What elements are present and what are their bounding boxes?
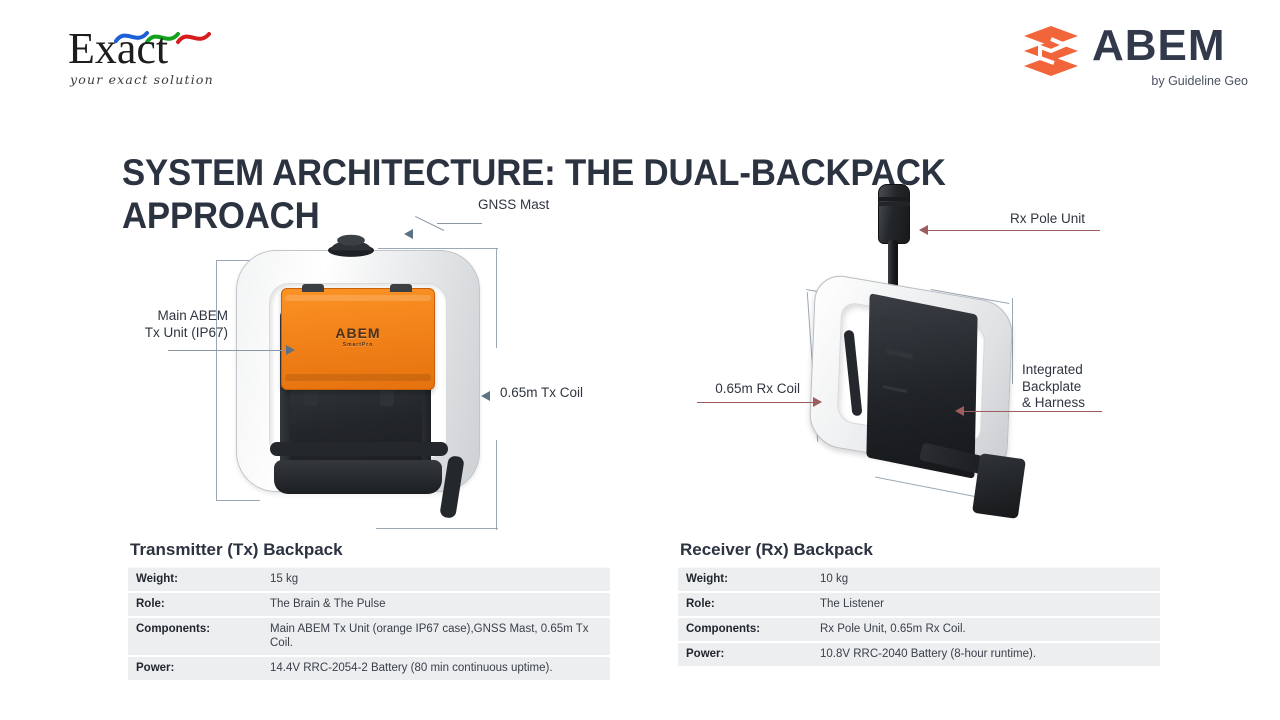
spec-value: 15 kg — [264, 568, 610, 593]
callout-tx-coil: 0.65m Tx Coil — [500, 385, 583, 402]
case-latch — [302, 284, 324, 292]
spec-key: Weight: — [678, 568, 814, 593]
exact-logo: Exact your exact solution — [62, 22, 282, 92]
spec-value: Rx Pole Unit, 0.65m Rx Coil. — [814, 617, 1160, 642]
arrow-tx-coil-icon — [481, 391, 490, 401]
exact-tagline: your exact solution — [70, 72, 214, 87]
spec-key: Power: — [128, 656, 264, 681]
spec-key: Components: — [678, 617, 814, 642]
leader-line-rx-pole — [928, 230, 1100, 231]
case-brand-sub: SmartPro — [282, 342, 434, 348]
leader-line-rx-coil — [697, 402, 815, 403]
transmitter-spec-block: Transmitter (Tx) Backpack Weight: 15 kg … — [128, 540, 610, 682]
arrow-gnss-mast-icon — [404, 229, 413, 239]
gnss-mast-icon — [327, 228, 375, 258]
abem-logo: ABEM by Guideline Geo — [1020, 18, 1250, 88]
dim-line — [496, 440, 497, 530]
spec-key: Power: — [678, 642, 814, 667]
table-row: Weight: 10 kg — [678, 568, 1160, 593]
callout-integrated-backplate: Integrated Backplate & Harness — [1022, 362, 1085, 412]
case-brand-text: ABEM — [335, 325, 380, 341]
arrow-main-tx-unit-icon — [286, 345, 295, 355]
abem-subtitle: by Guideline Geo — [1151, 74, 1248, 88]
spec-value: The Brain & The Pulse — [264, 592, 610, 617]
transmitter-spec-title: Transmitter (Tx) Backpack — [130, 540, 610, 560]
dim-tick — [216, 500, 260, 501]
receiver-spec-title: Receiver (Rx) Backpack — [680, 540, 1160, 560]
dim-line — [496, 248, 497, 348]
spec-value: 10.8V RRC-2040 Battery (8-hour runtime). — [814, 642, 1160, 667]
table-row: Components: Main ABEM Tx Unit (orange IP… — [128, 617, 610, 656]
case-lip — [285, 374, 431, 381]
arrow-rx-pole-unit-icon — [919, 225, 928, 235]
leader-line-gnss — [437, 223, 482, 224]
rx-pole-unit — [878, 184, 910, 244]
transmitter-backpack-illustration: ABEM SmartPro — [228, 228, 498, 528]
table-row: Weight: 15 kg — [128, 568, 610, 593]
transmitter-spec-table: Weight: 15 kg Role: The Brain & The Puls… — [128, 567, 610, 682]
case-latch — [390, 284, 412, 292]
harness-side-strap — [972, 453, 1026, 519]
dim-line — [216, 260, 217, 500]
spec-key: Role: — [678, 592, 814, 617]
abem-hexagon-layers-icon — [1020, 24, 1082, 82]
leader-line-backplate — [964, 411, 1102, 412]
slide-root: Exact your exact solution ABEM by Guidel… — [0, 0, 1280, 720]
dim-line — [1012, 298, 1013, 384]
table-row: Components: Rx Pole Unit, 0.65m Rx Coil. — [678, 617, 1160, 642]
callout-rx-pole-unit: Rx Pole Unit — [1010, 211, 1085, 228]
spec-value: 14.4V RRC-2054-2 Battery (80 min continu… — [264, 656, 610, 681]
spec-value: The Listener — [814, 592, 1160, 617]
table-row: Power: 10.8V RRC-2040 Battery (8-hour ru… — [678, 642, 1160, 667]
waist-strap — [270, 442, 448, 456]
arrow-integrated-backplate-icon — [955, 406, 964, 416]
exact-wordmark: Exact — [68, 26, 168, 72]
receiver-spec-block: Receiver (Rx) Backpack Weight: 10 kg Rol… — [678, 540, 1160, 668]
abem-wordmark: ABEM — [1092, 22, 1226, 70]
spec-key: Role: — [128, 592, 264, 617]
dim-tick — [376, 528, 498, 529]
case-brand-label: ABEM SmartPro — [282, 325, 434, 348]
spec-key: Weight: — [128, 568, 264, 593]
receiver-spec-table: Weight: 10 kg Role: The Listener Compone… — [678, 567, 1160, 668]
spec-key: Components: — [128, 617, 264, 656]
callout-rx-coil: 0.65m Rx Coil — [640, 381, 800, 398]
spec-value: 10 kg — [814, 568, 1160, 593]
pole-ring — [878, 197, 910, 201]
table-row: Role: The Listener — [678, 592, 1160, 617]
case-lip — [285, 295, 431, 301]
leader-line-tx-unit — [168, 350, 286, 351]
table-row: Role: The Brain & The Pulse — [128, 592, 610, 617]
hip-belt — [274, 460, 442, 494]
receiver-backpack-illustration — [800, 180, 1100, 540]
diagram-stage: ABEM SmartPro GNSS Mast Main ABEM Tx Uni… — [0, 180, 1280, 540]
callout-gnss-mast: GNSS Mast — [478, 197, 549, 214]
callout-main-tx-unit: Main ABEM Tx Unit (IP67) — [122, 308, 228, 341]
dim-tick — [378, 248, 498, 249]
table-row: Power: 14.4V RRC-2054-2 Battery (80 min … — [128, 656, 610, 681]
spec-value: Main ABEM Tx Unit (orange IP67 case),GNS… — [264, 617, 610, 656]
main-abem-tx-unit-case: ABEM SmartPro — [281, 288, 435, 390]
arrow-rx-coil-icon — [813, 397, 822, 407]
